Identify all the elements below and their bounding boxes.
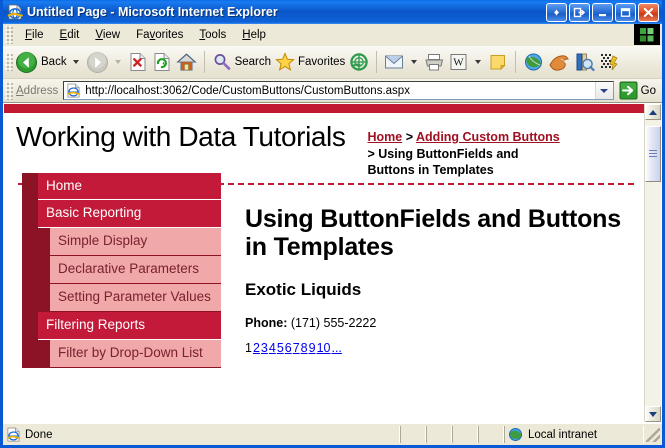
vertical-scrollbar[interactable] (644, 104, 661, 422)
search-icon (212, 52, 232, 72)
pager-link-3[interactable]: 3 (261, 341, 268, 355)
sidebar-item-filter-by-drop-down-list[interactable]: Filter by Drop-Down List (22, 340, 221, 368)
go-button[interactable]: Go (614, 81, 660, 100)
sidebar-stripe (22, 228, 50, 256)
sidebar-stripe (22, 284, 50, 312)
pager-link-7[interactable]: 7 (293, 341, 300, 355)
menu-bar: File Edit View Favorites Tools Help (3, 24, 662, 46)
scrollbar-grip-icon (649, 150, 657, 159)
edit-dropdown-icon[interactable] (475, 60, 481, 64)
sidebar-item-declarative-parameters[interactable]: Declarative Parameters (22, 256, 221, 284)
phone-field: Phone: (171) 555-2222 (245, 316, 632, 330)
scrollbar-thumb[interactable] (645, 126, 661, 182)
favorites-label: Favorites (298, 56, 345, 68)
stop-button[interactable] (126, 50, 150, 74)
pager-link-5[interactable]: 5 (277, 341, 284, 355)
stop-icon (128, 52, 148, 72)
scroll-down-button[interactable] (645, 406, 661, 422)
globe-intranet-icon (508, 427, 523, 442)
address-url-text[interactable]: http://localhost:3062/Code/CustomButtons… (85, 85, 594, 97)
sidebar-item-label: Filtering Reports (38, 312, 221, 340)
sidebar-item-label: Declarative Parameters (50, 256, 221, 284)
svg-text:W: W (454, 57, 465, 69)
home-button[interactable] (174, 50, 199, 74)
mail-button[interactable] (382, 50, 422, 74)
menu-item-favorites[interactable]: Favorites (128, 27, 191, 43)
window-controls (546, 3, 660, 22)
ie-animated-logo (634, 24, 660, 45)
scrollbar-track[interactable] (645, 120, 661, 406)
scroll-up-button[interactable] (645, 104, 661, 120)
address-bar: Address http://localhost:3062/Code/Custo… (3, 79, 662, 103)
chevron-down-icon (649, 412, 657, 417)
mail-dropdown-icon[interactable] (411, 60, 417, 64)
toolbar-grip[interactable] (5, 53, 13, 71)
refresh-button[interactable] (150, 50, 174, 74)
browser-window: Untitled Page - Microsoft Internet Explo… (0, 0, 665, 448)
status-blank-pane-3 (452, 426, 478, 443)
page-viewport: Working with Data Tutorials Home > Addin… (3, 103, 662, 423)
toolbar: Back (3, 46, 662, 79)
page-body: Home Basic Reporting Simple Display (4, 185, 644, 368)
sidebar-item-basic-reporting[interactable]: Basic Reporting (22, 200, 221, 228)
window-switch-button[interactable] (569, 3, 590, 22)
main-content: Using ButtonFields and Buttons in Templa… (221, 185, 644, 355)
back-arrow-icon (15, 51, 38, 74)
search-label: Search (235, 56, 271, 68)
firefox-icon (548, 52, 570, 72)
ie-page-icon (66, 83, 82, 99)
breadcrumb-sep-1: > (402, 130, 416, 144)
sidebar-item-setting-parameter-values[interactable]: Setting Parameter Values (22, 284, 221, 312)
ie-page-icon (6, 427, 21, 442)
menu-item-file[interactable]: File (17, 27, 52, 43)
pager-link-2[interactable]: 2 (253, 341, 260, 355)
toolbar-separator (515, 51, 516, 73)
supplier-name: Exotic Liquids (245, 280, 632, 300)
status-blank-pane-2 (426, 426, 452, 443)
sidebar-item-label: Home (38, 173, 221, 201)
pager-link-6[interactable]: 6 (285, 341, 292, 355)
pager-link-10[interactable]: 10 (317, 341, 331, 355)
address-dropdown-button[interactable] (595, 82, 613, 99)
forward-button (84, 50, 126, 74)
page-title: Using ButtonFields and Buttons in Templa… (245, 205, 632, 262)
pager: 12345678910... (245, 341, 632, 355)
address-input[interactable]: http://localhost:3062/Code/CustomButtons… (63, 81, 613, 100)
sidebar-stripe (22, 173, 38, 201)
close-button[interactable] (638, 3, 659, 22)
resize-grip[interactable] (646, 428, 660, 442)
menu-items: File Edit View Favorites Tools Help (13, 27, 274, 43)
pager-link-more[interactable]: ... (331, 341, 341, 355)
mail-icon (384, 53, 405, 71)
page-header: Working with Data Tutorials Home > Addin… (4, 113, 644, 179)
back-label: Back (41, 56, 67, 68)
page-content: Working with Data Tutorials Home > Addin… (4, 113, 644, 368)
messenger-button[interactable] (521, 50, 546, 74)
security-zone-pane[interactable]: Local intranet (504, 426, 644, 443)
refresh-icon (152, 52, 172, 72)
page-top-band (4, 104, 644, 113)
pager-current-page: 1 (245, 341, 252, 355)
green-go-arrow-icon (619, 81, 638, 100)
status-blank-pane-1 (400, 426, 426, 443)
breadcrumb: Home > Adding Custom Buttons > Using But… (367, 129, 567, 179)
pager-link-9[interactable]: 9 (309, 341, 316, 355)
status-blank-pane-4 (478, 426, 504, 443)
status-pane: Done (3, 426, 400, 443)
sidebar-item-label: Simple Display (50, 228, 221, 256)
breadcrumb-link-parent[interactable]: Adding Custom Buttons (416, 130, 560, 144)
sidebar-stripe (22, 200, 38, 228)
forward-arrow-icon (86, 51, 109, 74)
research-icon (574, 52, 595, 72)
maximize-button[interactable] (615, 3, 636, 22)
encarta-icon (599, 52, 620, 72)
favorites-star-icon (275, 52, 295, 72)
notes-button[interactable] (486, 50, 510, 74)
history-icon (349, 52, 369, 72)
security-zone-text: Local intranet (528, 429, 597, 441)
pager-link-8[interactable]: 8 (301, 341, 308, 355)
menu-item-edit[interactable]: Edit (52, 27, 88, 43)
pager-link-4[interactable]: 4 (269, 341, 276, 355)
back-button[interactable]: Back (13, 50, 84, 74)
address-label: Address (13, 85, 63, 97)
encarta-button[interactable] (597, 50, 622, 74)
sidebar-item-filtering-reports[interactable]: Filtering Reports (22, 312, 221, 340)
phone-value: (171) 555-2222 (291, 316, 376, 330)
research-button[interactable] (572, 50, 597, 74)
site-title: Working with Data Tutorials (4, 119, 345, 155)
phone-label: Phone: (245, 316, 287, 330)
favorites-button[interactable]: Favorites (273, 50, 347, 74)
title-bar[interactable]: Untitled Page - Microsoft Internet Explo… (3, 0, 662, 24)
ie-document-icon (7, 4, 23, 20)
sidebar-item-label: Basic Reporting (38, 200, 221, 228)
messenger-icon (523, 52, 544, 72)
chevron-down-icon (600, 89, 608, 93)
chevron-up-icon (649, 110, 657, 115)
sidebar-item-label: Filter by Drop-Down List (50, 340, 221, 368)
breadcrumb-link-home[interactable]: Home (367, 130, 402, 144)
sidebar-menu: Home Basic Reporting Simple Display (22, 173, 221, 368)
toolbar-separator (204, 51, 205, 73)
menu-item-tools[interactable]: Tools (191, 27, 234, 43)
history-button[interactable] (347, 50, 371, 74)
status-text: Done (25, 429, 53, 441)
search-button[interactable]: Search (210, 50, 273, 74)
edit-word-icon: W (449, 53, 469, 71)
restore-group-button[interactable] (546, 3, 567, 22)
firefox-button[interactable] (546, 50, 572, 74)
toolbar-separator (376, 51, 377, 73)
sidebar-item-simple-display[interactable]: Simple Display (22, 228, 221, 256)
print-button[interactable] (422, 50, 447, 74)
menu-item-help[interactable]: Help (234, 27, 274, 43)
minimize-button[interactable] (592, 3, 613, 22)
web-page: Working with Data Tutorials Home > Addin… (4, 104, 644, 422)
sidebar-stripe (22, 340, 50, 368)
sidebar-item-home[interactable]: Home (22, 173, 221, 201)
window-title: Untitled Page - Microsoft Internet Explo… (27, 5, 546, 19)
menubar-grip[interactable] (5, 26, 13, 44)
sidebar-stripe (22, 256, 50, 284)
sidebar-item-label: Setting Parameter Values (50, 284, 221, 312)
menu-item-view[interactable]: View (87, 27, 128, 43)
back-dropdown-icon[interactable] (73, 60, 79, 64)
home-icon (176, 52, 197, 72)
forward-dropdown-icon (115, 60, 121, 64)
notes-icon (488, 53, 508, 72)
status-bar: Done Local intranet (3, 423, 662, 445)
go-label: Go (641, 85, 656, 97)
breadcrumb-current: Using ButtonFields and Buttons in Templa… (367, 147, 518, 178)
addressbar-grip[interactable] (5, 82, 13, 100)
breadcrumb-sep-2: > (367, 147, 378, 161)
window-frame: Untitled Page - Microsoft Internet Explo… (0, 0, 665, 448)
edit-word-button[interactable]: W (447, 50, 486, 74)
sidebar-stripe (22, 312, 38, 340)
print-icon (424, 53, 445, 72)
